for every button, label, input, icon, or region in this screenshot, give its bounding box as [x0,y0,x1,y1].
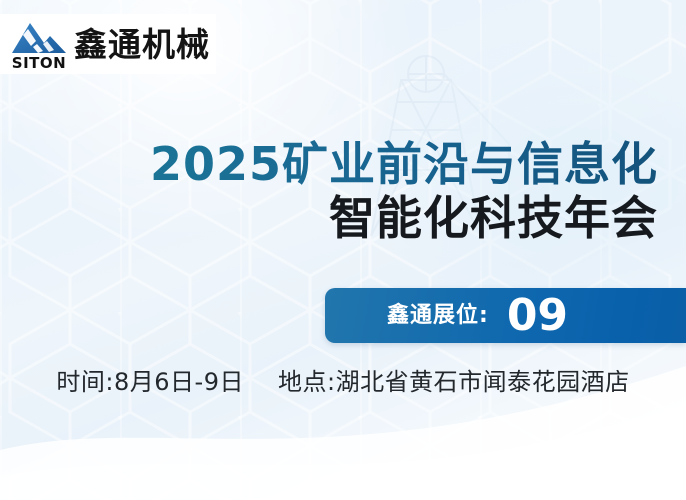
booth-label: 鑫通展位: [387,305,489,327]
company-logo: SITON 鑫通机械 [0,14,216,74]
svg-text:SITON: SITON [12,54,66,71]
company-name-chinese: 鑫通机械 [74,28,210,61]
event-title-line1: 2025矿业前沿与信息化 [18,140,658,190]
event-place: 地点:湖北省黄石市闻泰花园酒店 [278,368,630,397]
event-title-line2: 智能化科技年会 [18,194,658,244]
booth-banner: 鑫通展位: 09 [325,288,686,343]
event-info-row: 时间:8月6日-9日 地点:湖北省黄石市闻泰花园酒店 [0,368,686,397]
hexagon-outline-overlay [0,0,686,500]
hexagon-pattern-background [0,0,686,500]
event-time: 时间:8月6日-9日 [56,368,244,397]
booth-number: 09 [507,294,568,338]
exhibition-poster: SITON 鑫通机械 2025矿业前沿与信息化 智能化科技年会 鑫通展位: 09… [0,0,686,500]
siton-mountain-icon: SITON [8,17,70,71]
event-title: 2025矿业前沿与信息化 智能化科技年会 [18,140,658,243]
